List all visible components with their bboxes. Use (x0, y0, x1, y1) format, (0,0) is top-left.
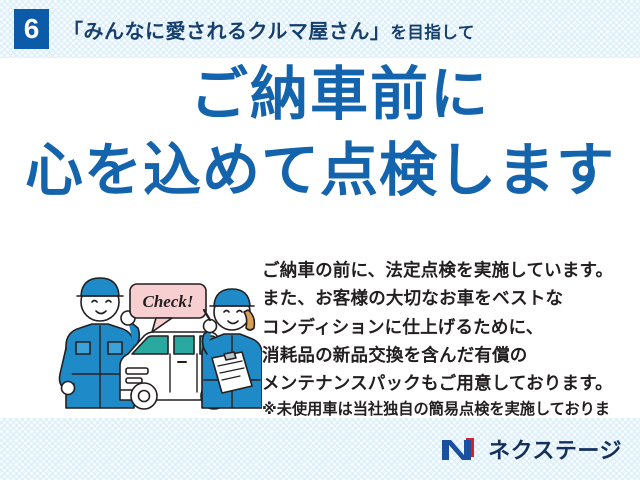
headline-line-2: 心を込めて点検します (0, 142, 640, 200)
header-band: 6 「みんなに愛されるクルマ屋さん」を目指して (0, 0, 640, 58)
body-line-5: メンテナンスパックもご用意しております。 (262, 369, 632, 397)
header-title-quoted: 「みんなに愛されるクルマ屋さん」 (63, 21, 390, 43)
body-line-1: ご納車の前に、法定点検を実施しています。 (262, 256, 632, 284)
header-title-tail: を目指して (390, 24, 475, 42)
header-title: 「みんなに愛されるクルマ屋さん」を目指して (63, 15, 475, 44)
advertisement-card: 6 「みんなに愛されるクルマ屋さん」を目指して ご納車前に 心を込めて点検します… (0, 0, 640, 480)
mechanics-van-illustration: Check! (52, 262, 262, 410)
header-inner: 6 「みんなに愛されるクルマ屋さん」を目指して (0, 9, 475, 49)
section-number-badge: 6 (14, 9, 49, 49)
headline-line-1: ご納車前に (0, 66, 640, 124)
body-line-3: コンディションに仕上げるために、 (262, 313, 632, 341)
brand-name: ネクステージ (488, 433, 622, 465)
body-line-4: 消耗品の新品交換を含んだ有償の (262, 341, 632, 369)
brand-logo: ネクステージ (440, 433, 640, 465)
mechanic-right (202, 289, 262, 408)
check-bubble-label: Check! (143, 292, 194, 311)
headline: ご納車前に 心を込めて点検します (0, 66, 640, 200)
nextage-n-logo-icon (440, 435, 480, 463)
body-line-2: また、お客様の大切なお車をベストな (262, 284, 632, 312)
footer-band: ネクステージ (0, 418, 640, 480)
